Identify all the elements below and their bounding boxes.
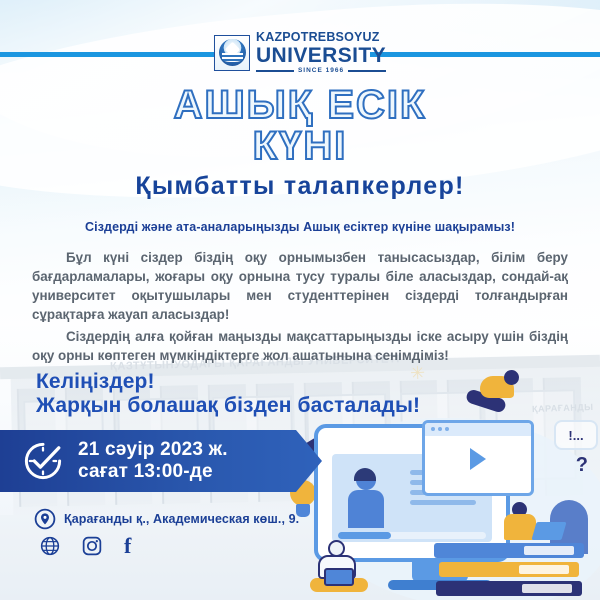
globe-icon[interactable] (40, 536, 60, 556)
person-floor-laptop-illustration (308, 540, 370, 594)
logo-text-kazpotrebsoyuz: KAZPOTREBSOYUZ (256, 31, 386, 44)
page-title: Қымбатты талапкерлер! (0, 172, 600, 201)
map-pin-icon (34, 508, 56, 530)
video-window-illustration (422, 420, 534, 496)
page-subtitle: Сіздерді және ата-аналарыңызды Ашық есік… (28, 220, 572, 234)
event-date: 21 сәуір 2023 ж. (78, 439, 228, 461)
body-text: Бұл күні сіздер біздің оқу орнымызбен та… (32, 248, 568, 365)
hero-title: АШЫҚ ЕСІК КҮНІ (0, 86, 600, 166)
hero-title-line1: АШЫҚ ЕСІК (174, 83, 427, 127)
event-datetime-banner: 21 сәуір 2023 ж. сағат 13:00-де (0, 430, 322, 492)
header-rule-right (370, 52, 600, 57)
hero-title-line2: КҮНІ (0, 127, 600, 166)
logo-text-university: UNIVERSITY (256, 45, 386, 66)
person-sitting-top-illustration (458, 376, 530, 424)
poster-root: ҚАЗТҰТЫНУОДАҒЫ ҚАРАҒАНДЫ УНИВЕРСИТЕТІ ҚА… (0, 0, 600, 600)
paragraph-2: Сіздердің алға қойған маңызды мақсаттары… (32, 327, 568, 365)
address-row: Қарағанды қ., Академическая көш., 9. (34, 508, 299, 530)
speech-bubble-illustration: !... ? (546, 420, 598, 482)
logo-since-row: SINCE 1966 (256, 68, 386, 75)
facebook-icon[interactable]: f (124, 536, 131, 556)
university-crest-icon (214, 35, 250, 71)
social-links: f (40, 536, 131, 556)
university-logo: KAZPOTREBSOYUZ UNIVERSITY SINCE 1966 (214, 31, 386, 74)
header-rule-left (0, 52, 230, 57)
logo-since-text: SINCE 1966 (298, 68, 344, 75)
book-stack-illustration (434, 539, 584, 596)
illustration: !... ? (280, 380, 600, 600)
speech-bubble-text: !... (554, 420, 598, 450)
paragraph-1: Бұл күні сіздер біздің оқу орнымызбен та… (32, 248, 568, 324)
address-text: Қарағанды қ., Академическая көш., 9. (64, 512, 299, 526)
instagram-icon[interactable] (82, 536, 102, 556)
clock-check-icon (22, 440, 64, 482)
event-time: сағат 13:00-де (78, 461, 228, 483)
question-mark-icon: ? (576, 454, 588, 477)
